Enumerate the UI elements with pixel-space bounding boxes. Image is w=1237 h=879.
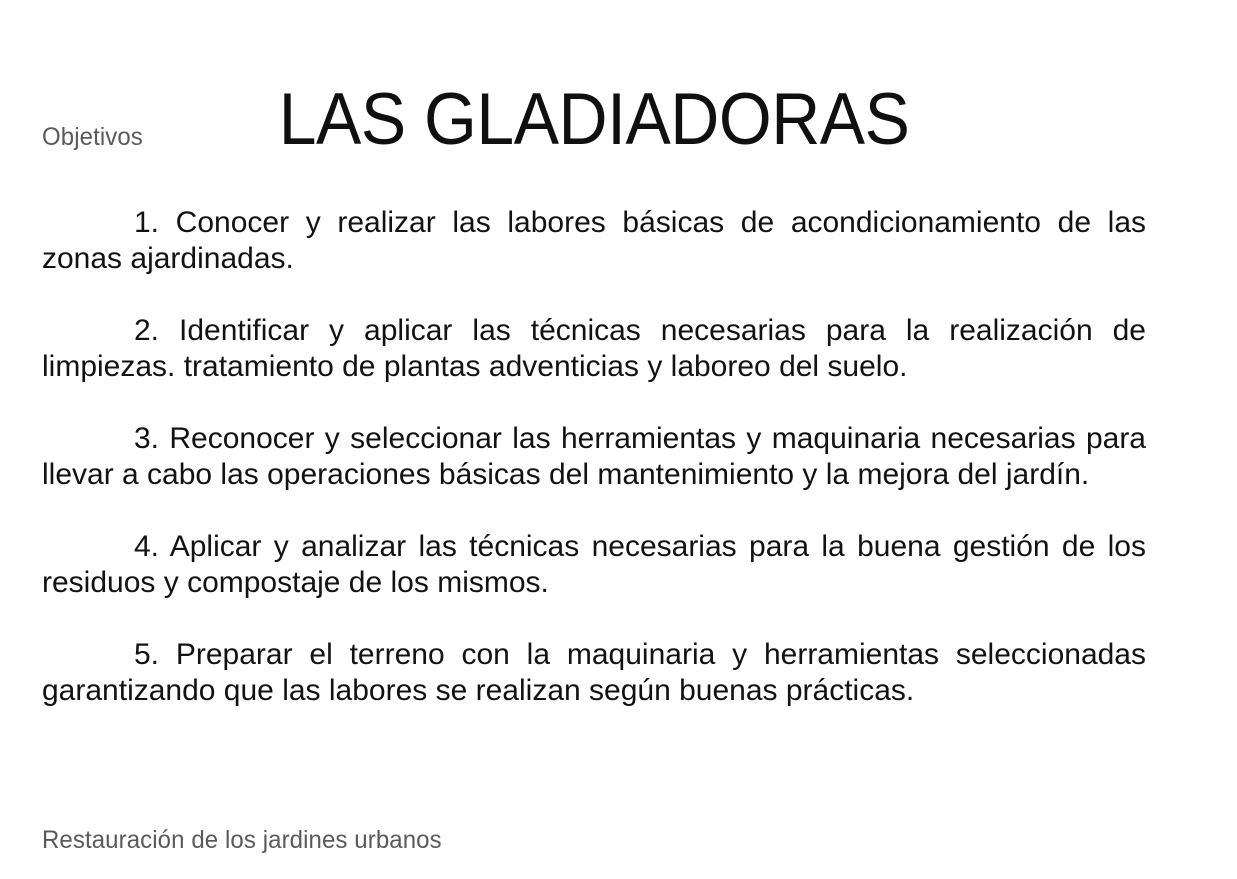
page-title: LAS GLADIADORAS: [279, 83, 910, 156]
list-item: 2. Identificar y aplicar las técnicas ne…: [42, 313, 1146, 385]
slide-canvas: LAS GLADIADORAS Objetivos 1. Conocer y r…: [0, 0, 1237, 879]
list-item: 3. Reconocer y seleccionar las herramien…: [42, 421, 1146, 493]
slide-footer: Restauración de los jardines urbanos: [42, 825, 442, 856]
section-kicker-objetivos: Objetivos: [42, 122, 143, 153]
list-item: 1. Conocer y realizar las labores básica…: [42, 205, 1146, 277]
list-item: 5. Preparar el terreno con la maquinaria…: [42, 637, 1146, 709]
objectives-list: 1. Conocer y realizar las labores básica…: [42, 205, 1146, 709]
slide-title-container: LAS GLADIADORAS: [0, 34, 1188, 205]
list-item: 4. Aplicar y analizar las técnicas neces…: [42, 529, 1146, 601]
